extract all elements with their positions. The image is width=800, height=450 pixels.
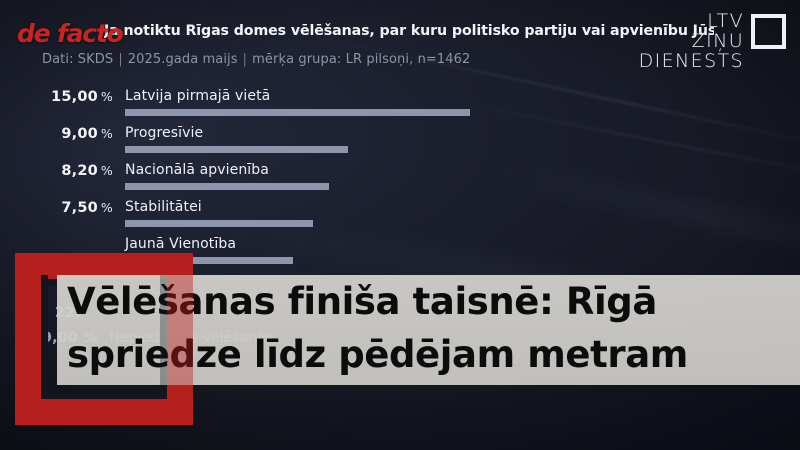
chart-row-bar-track bbox=[125, 183, 329, 190]
chart-row-unit: % bbox=[101, 89, 113, 104]
separator-icon: | bbox=[118, 52, 122, 67]
chart-row: 7,50% Stabilitātei bbox=[0, 199, 800, 236]
chart-row-value: 8,20% bbox=[0, 163, 113, 179]
chart-row-bar-track bbox=[125, 146, 348, 153]
chart-row-bar bbox=[125, 146, 348, 153]
chart-row-unit: % bbox=[101, 200, 113, 215]
headline-text: Vēlēšanas finiša taisnē: Rīgā spriedze l… bbox=[67, 276, 797, 381]
survey-source: Dati: SKDS bbox=[42, 52, 113, 67]
chart-row-percent: 7,50 bbox=[61, 200, 98, 216]
chart-row-value: 9,00% bbox=[0, 126, 113, 142]
broadcast-graphic: de facto Ja notiktu Rīgas domes vēlēšana… bbox=[0, 0, 800, 450]
chart-row-label: Latvija pirmajā vietā bbox=[125, 88, 270, 104]
chart-row-value bbox=[0, 237, 113, 253]
survey-source-line: Dati: SKDS|2025.gada maijs|mērķa grupa: … bbox=[42, 52, 470, 67]
ltv-wordmark: LTV ZIŅU DIENESTS bbox=[639, 12, 744, 71]
chart-row-bar bbox=[125, 220, 313, 227]
headline-line-1: Vēlēšanas finiša taisnē: Rīgā bbox=[67, 276, 797, 329]
headline-line-2: spriedze līdz pēdējam metram bbox=[67, 329, 797, 382]
chart-row-percent: 9,00 bbox=[61, 126, 98, 142]
survey-period: 2025.gada maijs bbox=[128, 52, 238, 67]
chart-row-label: Jaunā Vienotība bbox=[125, 236, 236, 252]
chart-row-bar bbox=[125, 183, 329, 190]
chart-row: 8,20% Nacionālā apvienība bbox=[0, 162, 800, 199]
chart-row-unit: % bbox=[101, 163, 113, 178]
survey-question: Ja notiktu Rīgas domes vēlēšanas, par ku… bbox=[104, 23, 714, 39]
square-outline-icon bbox=[751, 14, 786, 49]
ltv-line-1: LTV bbox=[639, 12, 744, 32]
headline-banner: Vēlēšanas finiša taisnē: Rīgā spriedze l… bbox=[57, 275, 800, 385]
chart-row-percent: 8,20 bbox=[61, 163, 98, 179]
chart-row-value: 15,00% bbox=[0, 89, 113, 105]
defacto-logo: de facto bbox=[17, 19, 123, 48]
chart-row-value: 7,50% bbox=[0, 200, 113, 216]
poll-bar-chart: 15,00% Latvija pirmajā vietā 9,00% Progr… bbox=[0, 88, 800, 273]
chart-row-percent: 15,00 bbox=[51, 89, 98, 105]
chart-row: 15,00% Latvija pirmajā vietā bbox=[0, 88, 800, 125]
chart-row-bar bbox=[125, 109, 470, 116]
survey-target-group: mērķa grupa: LR pilsoņi, n=1462 bbox=[252, 52, 470, 67]
chart-row-unit: % bbox=[101, 126, 113, 141]
separator-icon: | bbox=[243, 52, 247, 67]
chart-row-label: Stabilitātei bbox=[125, 199, 202, 215]
chart-row-bar-track bbox=[125, 220, 313, 227]
chart-row: 9,00% Progresīvie bbox=[0, 125, 800, 162]
ltv-line-3: DIENESTS bbox=[639, 52, 744, 72]
chart-row-bar-track bbox=[125, 109, 470, 116]
chart-row-label: Progresīvie bbox=[125, 125, 203, 141]
chart-row-label: Nacionālā apvienība bbox=[125, 162, 269, 178]
ltv-line-2: ZIŅU bbox=[639, 32, 744, 52]
ltv-logo: LTV ZIŅU DIENESTS bbox=[639, 12, 786, 71]
